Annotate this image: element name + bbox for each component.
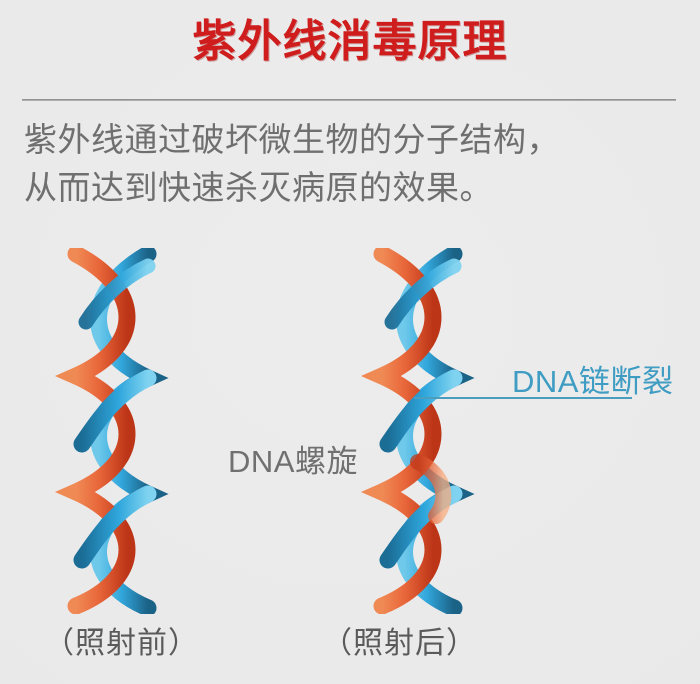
caption-after-irradiation: （照射后）: [322, 618, 477, 662]
page-title: 紫外线消毒原理: [0, 18, 700, 66]
callout-pointer-line: [414, 397, 632, 399]
label-dna-helix: DNA螺旋: [228, 436, 358, 481]
label-dna-chain-break: DNA链断裂: [512, 356, 673, 401]
dna-broken-helix-icon: [358, 248, 478, 614]
caption-before-irradiation: （照射前）: [44, 618, 199, 662]
header-divider: [22, 99, 676, 101]
description-text: 紫外线通过破坏微生物的分子结构， 从而达到快速杀灭病原的效果。: [24, 116, 684, 212]
description-line-1: 紫外线通过破坏微生物的分子结构，: [24, 116, 684, 164]
description-line-2: 从而达到快速杀灭病原的效果。: [24, 164, 684, 212]
dna-double-helix-icon: [52, 248, 172, 614]
infographic-page: 紫外线消毒原理 紫外线通过破坏微生物的分子结构， 从而达到快速杀灭病原的效果。: [0, 0, 700, 684]
